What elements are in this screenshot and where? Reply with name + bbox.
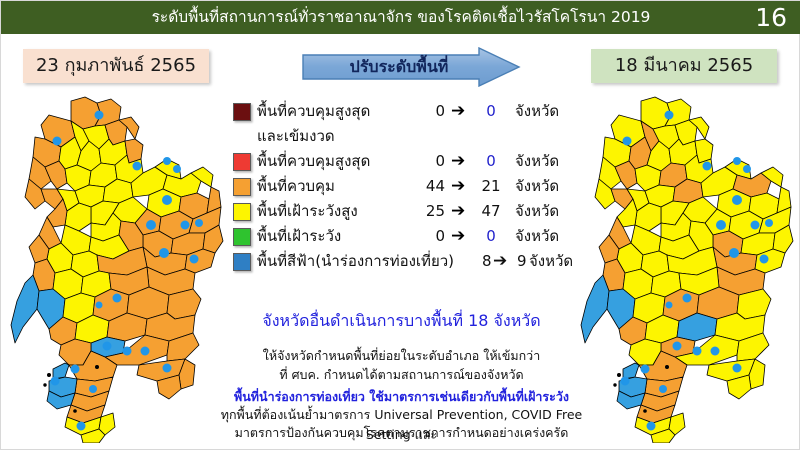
legend-to-red: 0 [473, 149, 509, 174]
note-line-1: ให้จังหวัดกำหนดพื้นที่ย่อยในระดับอำเภอ ใ… [214, 346, 589, 366]
legend-from-red: 0 [405, 149, 445, 174]
legend-to-dark-red: 0 [473, 99, 509, 124]
legend-from-blue: 8 [482, 249, 492, 274]
legend-unit-dark-red: จังหวัด [515, 99, 559, 124]
legend-row-dark-red: พื้นที่ควบคุมสูงสุด 0 ➔ 0 จังหวัด [229, 99, 574, 124]
date-label-after: 18 มีนาคม 2565 [591, 49, 777, 83]
legend-unit-orange: จังหวัด [515, 174, 559, 199]
legend: พื้นที่ควบคุมสูงสุด 0 ➔ 0 จังหวัด และเข้… [229, 99, 574, 274]
legend-swatch-dark-red [233, 103, 251, 121]
thailand-map-svg-before [9, 93, 224, 443]
legend-row-yellow: พื้นที่เฝ้าระวังสูง 25 ➔ 47 จังหวัด [229, 199, 574, 224]
legend-label-dark-red: พื้นที่ควบคุมสูงสุด [257, 99, 370, 124]
legend-swatch-blue [233, 253, 251, 271]
arrow-right-icon: ➔ [451, 149, 465, 174]
legend-row-green: พื้นที่เฝ้าระวัง 0 ➔ 0 จังหวัด [229, 224, 574, 249]
note-line-3-tourism: พื้นที่นำร่องการท่องเที่ยว ใช้มาตรการเช่… [214, 387, 589, 407]
legend-swatch-green [233, 228, 251, 246]
arrow-right-icon: ➔ [451, 224, 465, 249]
page-number: 16 [755, 3, 787, 33]
legend-unit-red: จังหวัด [515, 149, 559, 174]
legend-label-red: พื้นที่ควบคุมสูงสุด [257, 149, 370, 174]
slide-root: ระดับพื้นที่สถานการณ์ทั่วราชอาณาจักร ของ… [0, 0, 800, 450]
legend-to-blue: 9 [517, 249, 527, 274]
arrow-right-icon: ➔ [493, 249, 507, 274]
note-line-2: ที่ ศบค. กำหนดได้ตามสถานการณ์ของจังหวัด [214, 365, 589, 385]
legend-to-green: 0 [473, 224, 509, 249]
date-label-before: 23 กุมภาพันธ์ 2565 [23, 49, 209, 83]
arrow-right-icon: ➔ [451, 99, 465, 124]
legend-to-yellow: 47 [473, 199, 509, 224]
map-thailand-after [579, 93, 794, 443]
legend-swatch-orange [233, 178, 251, 196]
legend-from-orange: 44 [405, 174, 445, 199]
legend-unit-green: จังหวัด [515, 224, 559, 249]
arrow-right-icon: ➔ [451, 199, 465, 224]
thailand-map-svg-after [579, 93, 794, 443]
legend-row-red: พื้นที่ควบคุมสูงสุด 0 ➔ 0 จังหวัด [229, 149, 574, 174]
legend-label-orange: พื้นที่ควบคุม [257, 174, 335, 199]
legend-row-dark-red-sub: และเข้มงวด [229, 124, 574, 149]
legend-swatch-red [233, 153, 251, 171]
header-bar: ระดับพื้นที่สถานการณ์ทั่วราชอาณาจักร ของ… [1, 1, 800, 34]
arrow-banner-label: ปรับระดับพื้นที่ [301, 47, 497, 87]
transition-arrow-banner: ปรับระดับพื้นที่ [301, 47, 521, 87]
legend-label-blue: พื้นที่สีฟ้า(นำร่องการท่องเที่ยว) [257, 249, 454, 274]
note-highlight: จังหวัดอื่นดำเนินการบางพื้นที่ 18 จังหวั… [229, 309, 574, 334]
legend-unit-yellow: จังหวัด [515, 199, 559, 224]
legend-from-dark-red: 0 [405, 99, 445, 124]
legend-row-blue: พื้นที่สีฟ้า(นำร่องการท่องเที่ยว) 8 ➔ 9 … [229, 249, 574, 274]
note-line-5: มาตรการป้องกันควบคุมโรคตามราชการกำหนดอย่… [214, 423, 589, 443]
legend-label-green: พื้นที่เฝ้าระวัง [257, 224, 341, 249]
legend-row-orange: พื้นที่ควบคุม 44 ➔ 21 จังหวัด [229, 174, 574, 199]
legend-label-yellow: พื้นที่เฝ้าระวังสูง [257, 199, 358, 224]
page-title: ระดับพื้นที่สถานการณ์ทั่วราชอาณาจักร ของ… [1, 1, 800, 34]
map-thailand-before [9, 93, 224, 443]
legend-unit-blue: จังหวัด [529, 249, 573, 274]
legend-from-yellow: 25 [405, 199, 445, 224]
arrow-right-icon: ➔ [451, 174, 465, 199]
legend-swatch-yellow [233, 203, 251, 221]
legend-from-green: 0 [405, 224, 445, 249]
legend-sublabel-dark-red: และเข้มงวด [257, 124, 335, 148]
legend-to-orange: 21 [473, 174, 509, 199]
